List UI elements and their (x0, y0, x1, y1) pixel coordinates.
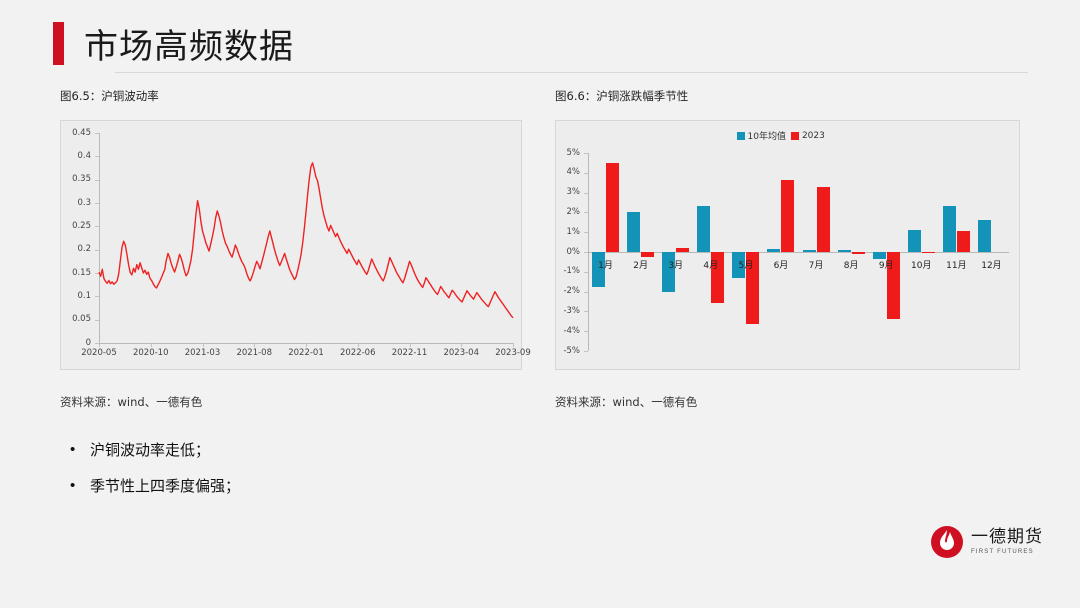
y-axis-tick-label: -5% (556, 347, 580, 356)
bullet-marker-icon: • (70, 440, 90, 460)
logo-name-en: FIRST FUTURES (971, 549, 1043, 555)
header-divider (115, 72, 1028, 73)
bullet-item: •沪铜波动率走低； (70, 440, 240, 460)
y-axis-tick-label: 5% (556, 149, 580, 158)
legend-swatch (737, 132, 745, 140)
legend-swatch (791, 132, 799, 140)
y-axis-tick-label: 2% (556, 208, 580, 217)
chart-legend: 10年均值2023 (737, 129, 825, 142)
bar-y2023-7 (817, 187, 830, 252)
bar-y2023-1 (606, 163, 619, 252)
figure-left-caption: 图6.5：沪铜波动率 (60, 88, 522, 104)
volatility-plot-area: 00.050.10.150.20.250.30.350.40.452020-05… (60, 120, 522, 370)
volatility-line-series (61, 121, 523, 371)
legend-label: 2023 (802, 131, 825, 141)
figure-seasonality: 图6.6：沪铜涨跌幅季节性 10年均值2023 5%4%3%2%1%0%-1%-… (555, 88, 1020, 410)
figure-right-caption: 图6.6：沪铜涨跌幅季节性 (555, 88, 1020, 104)
bar-avg10y-6 (767, 249, 780, 252)
bar-y2023-11 (957, 231, 970, 252)
figure-right-source: 资料来源：wind、一德有色 (555, 394, 1020, 410)
company-logo: 一德期货 FIRST FUTURES (930, 525, 1043, 559)
logo-flame-icon (930, 525, 964, 559)
y-axis-tick-label: 0% (556, 248, 580, 257)
y-axis-tick-label: -1% (556, 267, 580, 276)
y-axis-tick-label: 1% (556, 228, 580, 237)
bar-y2023-10 (922, 252, 935, 253)
y-axis-tick-label: -2% (556, 287, 580, 296)
seasonality-plot-area: 10年均值2023 5%4%3%2%1%0%-1%-2%-3%-4%-5%1月2… (555, 120, 1020, 370)
bullet-item: •季节性上四季度偏强； (70, 476, 240, 496)
slide-header: 市场高频数据 (0, 0, 1080, 78)
bullet-list: •沪铜波动率走低；•季节性上四季度偏强； (70, 440, 240, 512)
x-axis-category-label: 12月 (969, 258, 1013, 271)
y-axis-tick-label: -4% (556, 327, 580, 336)
y-axis-tick-label: -3% (556, 307, 580, 316)
bar-avg10y-4 (697, 206, 710, 252)
y-axis-tick-mark (584, 351, 588, 352)
legend-item[interactable]: 10年均值 (737, 129, 786, 142)
bar-avg10y-7 (803, 250, 816, 252)
bar-y2023-3 (676, 248, 689, 252)
figure-left-source: 资料来源：wind、一德有色 (60, 394, 522, 410)
figure-volatility: 图6.5：沪铜波动率 00.050.10.150.20.250.30.350.4… (60, 88, 522, 410)
bar-avg10y-12 (978, 220, 991, 252)
logo-text: 一德期货 FIRST FUTURES (971, 529, 1043, 555)
legend-label: 10年均值 (748, 129, 786, 142)
bar-y2023-2 (641, 252, 654, 257)
bar-avg10y-11 (943, 206, 956, 252)
legend-item[interactable]: 2023 (791, 131, 825, 141)
bar-y2023-8 (852, 252, 865, 254)
y-axis-tick-label: 4% (556, 168, 580, 177)
bar-avg10y-10 (908, 230, 921, 252)
y-axis-tick-label: 3% (556, 188, 580, 197)
bar-y2023-6 (781, 180, 794, 252)
bullet-text: 沪铜波动率走低； (90, 440, 210, 460)
page-title: 市场高频数据 (84, 19, 294, 68)
title-accent-bar (53, 22, 64, 65)
bullet-marker-icon: • (70, 476, 90, 496)
bar-avg10y-2 (627, 212, 640, 252)
bar-avg10y-8 (838, 250, 851, 252)
slide-root: 市场高频数据 图6.5：沪铜波动率 00.050.10.150.20.250.3… (0, 0, 1080, 608)
bullet-text: 季节性上四季度偏强； (90, 476, 240, 496)
logo-name-cn: 一德期货 (971, 529, 1043, 546)
